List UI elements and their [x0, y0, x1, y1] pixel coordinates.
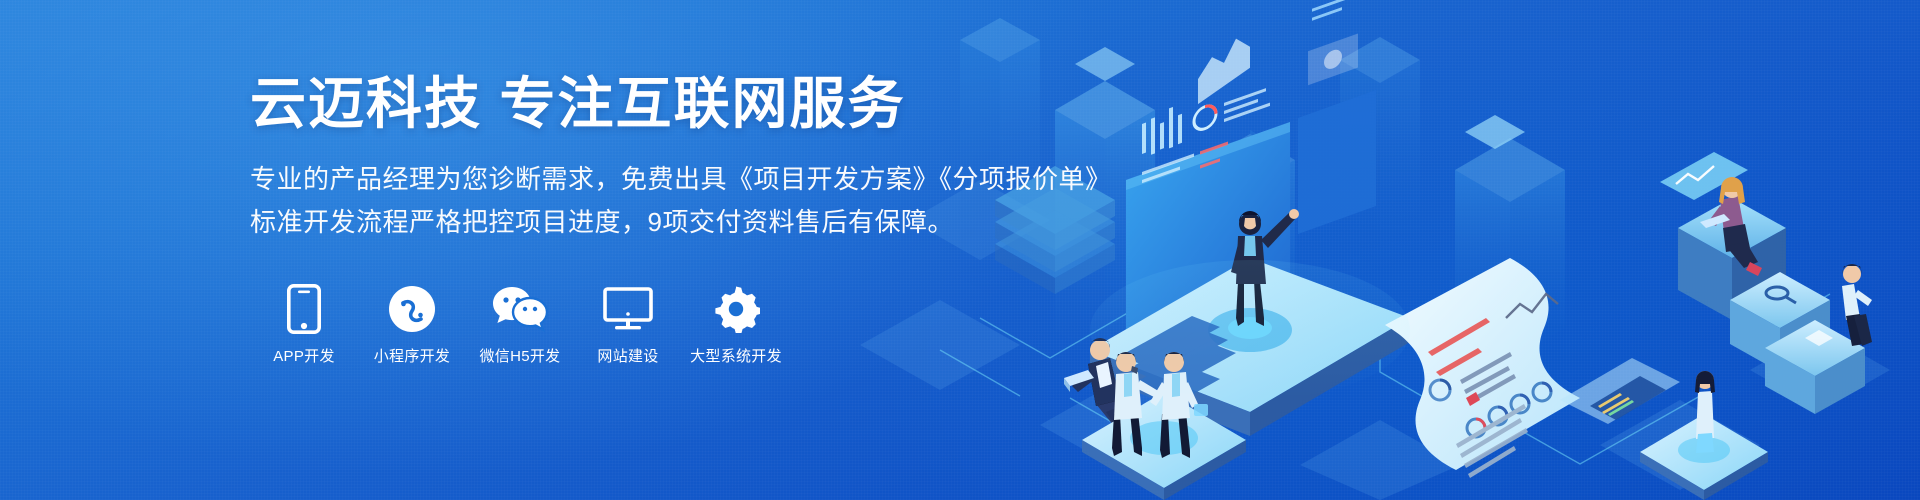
two-people-talking — [1082, 352, 1246, 500]
code-screen — [1560, 358, 1680, 424]
subtitle-line-2: 标准开发流程严格把控项目进度，9项交付资料售后有保障。 — [250, 201, 1100, 243]
service-item-wechat-h5[interactable]: 微信H5开发 — [466, 283, 574, 364]
service-label: 网站建设 — [597, 349, 658, 364]
woman-on-pedestal — [1678, 177, 1786, 320]
page-title: 云迈科技 专注互联网服务 — [250, 72, 1100, 136]
subtitle-line-1: 专业的产品经理为您诊断需求，免费出具《项目开发方案》《分项报价单》 — [250, 158, 1100, 200]
service-item-mini-program[interactable]: 小程序开发 — [358, 283, 466, 364]
person-cube — [1765, 320, 1865, 414]
tablet-platform — [1090, 258, 1410, 436]
search-cube — [1730, 272, 1830, 372]
service-label: 微信H5开发 — [480, 349, 561, 364]
wechat-icon — [492, 283, 548, 335]
gear-icon — [712, 283, 760, 335]
service-item-app[interactable]: APP开发 — [250, 283, 358, 364]
hero-banner: 云迈科技 专注互联网服务 专业的产品经理为您诊断需求，免费出具《项目开发方案》《… — [0, 0, 1920, 500]
standing-person — [1231, 209, 1299, 326]
banner-content: 云迈科技 专注互联网服务 专业的产品经理为您诊断需求，免费出具《项目开发方案》《… — [250, 72, 1100, 364]
dashboard-screen — [1126, 0, 1376, 348]
woman-on-platform — [1640, 371, 1768, 500]
mini-program-icon — [388, 283, 436, 335]
service-item-large-system[interactable]: 大型系统开发 — [682, 283, 790, 364]
service-label: 小程序开发 — [374, 349, 451, 364]
service-label: 大型系统开发 — [690, 349, 782, 364]
walking-person — [1842, 264, 1872, 346]
service-item-website[interactable]: 网站建设 — [574, 283, 682, 364]
service-label: APP开发 — [273, 349, 335, 364]
floating-chart-card — [1660, 152, 1748, 200]
monitor-icon — [603, 283, 653, 335]
mobile-phone-icon — [287, 283, 321, 335]
service-list: APP开发 小程序开发 — [250, 283, 1100, 364]
data-scroll-report — [1385, 258, 1580, 478]
